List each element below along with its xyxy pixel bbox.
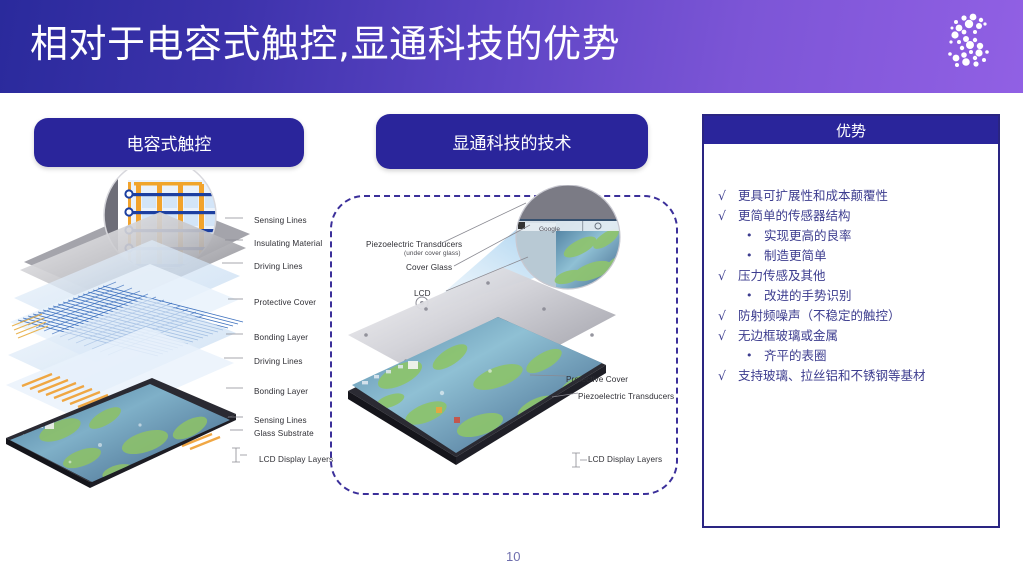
bullet-icon: •: [742, 246, 764, 266]
label-protective-cover-left: Protective Cover: [254, 298, 316, 307]
advantage-item-label: 实现更高的良率: [764, 226, 852, 246]
advantage-item-label: 更简单的传感器结构: [738, 206, 851, 226]
advantage-item: √支持玻璃、拉丝铝和不锈钢等基材: [714, 366, 992, 386]
checkmark-icon: √: [714, 266, 738, 286]
checkmark-icon: √: [714, 326, 738, 346]
label-lcd-display-layers-right: LCD Display Layers: [588, 455, 662, 464]
label-driving-lines-bottom: Driving Lines: [254, 357, 303, 366]
advantage-item-label: 更具可扩展性和成本颠覆性: [738, 186, 888, 206]
advantage-sub-item: •改进的手势识别: [714, 286, 992, 306]
advantage-sub-item: •制造更简单: [714, 246, 992, 266]
advantage-sub-item: •齐平的表圈: [714, 346, 992, 366]
slide-header: 相对于电容式触控,显通科技的优势: [0, 0, 1023, 93]
label-bonding-layer-1: Bonding Layer: [254, 333, 308, 342]
label-sensing-lines-top: Sensing Lines: [254, 216, 307, 225]
bullet-icon: •: [742, 226, 764, 246]
label-bonding-layer-2: Bonding Layer: [254, 387, 308, 396]
advantage-item-label: 齐平的表圈: [764, 346, 827, 366]
advantages-list: √更具可扩展性和成本颠覆性√更简单的传感器结构•实现更高的良率•制造更简单√压力…: [704, 144, 998, 386]
dotted-s-logo-icon: [935, 8, 997, 78]
label-driving-lines-top: Driving Lines: [254, 262, 303, 271]
checkmark-icon: √: [714, 206, 738, 226]
sentons-technology-header-pill: 显通科技的技术: [376, 114, 648, 169]
slide-canvas: 相对于电容式触控,显通科技的优势 电容式触控 显通科技的技术: [0, 0, 1023, 571]
advantage-item: √更简单的传感器结构: [714, 206, 992, 226]
checkmark-icon: √: [714, 366, 738, 386]
label-piezoelectric-transducers-right: Piezoelectric Transducers: [578, 392, 674, 401]
advantage-sub-item: •实现更高的良率: [714, 226, 992, 246]
advantage-item-label: 改进的手势识别: [764, 286, 852, 306]
checkmark-icon: √: [714, 306, 738, 326]
advantage-item: √压力传感及其他: [714, 266, 992, 286]
advantage-item-label: 防射频噪声（不稳定的触控）: [738, 306, 901, 326]
page-title: 相对于电容式触控,显通科技的优势: [30, 17, 620, 71]
bullet-icon: •: [742, 286, 764, 306]
label-protective-cover-right: Protective Cover: [566, 375, 628, 384]
label-under-cover-glass: (under cover glass): [404, 250, 461, 257]
label-insulating-material: Insulating Material: [254, 239, 322, 248]
bullet-icon: •: [742, 346, 764, 366]
advantage-item-label: 支持玻璃、拉丝铝和不锈钢等基材: [738, 366, 926, 386]
capacitive-touch-header-pill: 电容式触控: [34, 118, 304, 167]
label-sensing-lines-bottom: Sensing Lines: [254, 416, 307, 425]
advantage-item-label: 制造更简单: [764, 246, 827, 266]
checkmark-icon: √: [714, 186, 738, 206]
advantage-item-label: 压力传感及其他: [738, 266, 826, 286]
sentons-technology-stack-diagram: Google: [330, 185, 690, 500]
advantage-item-label: 无边框玻璃或金属: [738, 326, 838, 346]
svg-text:Google: Google: [539, 226, 560, 233]
advantage-item: √防射频噪声（不稳定的触控）: [714, 306, 992, 326]
advantage-item: √更具可扩展性和成本颠覆性: [714, 186, 992, 206]
label-piezoelectric-transducers-top: Piezoelectric Transducers: [366, 240, 462, 249]
label-glass-substrate: Glass Substrate: [254, 429, 314, 438]
advantages-title: 优势: [704, 116, 998, 144]
page-number: 10: [506, 549, 520, 571]
advantage-item: √无边框玻璃或金属: [714, 326, 992, 346]
label-lcd-display-layers-left: LCD Display Layers: [259, 455, 333, 464]
label-cover-glass: Cover Glass: [406, 263, 452, 272]
advantages-panel: 优势 √更具可扩展性和成本颠覆性√更简单的传感器结构•实现更高的良率•制造更简单…: [702, 114, 1000, 528]
label-lcd: LCD: [414, 289, 431, 298]
